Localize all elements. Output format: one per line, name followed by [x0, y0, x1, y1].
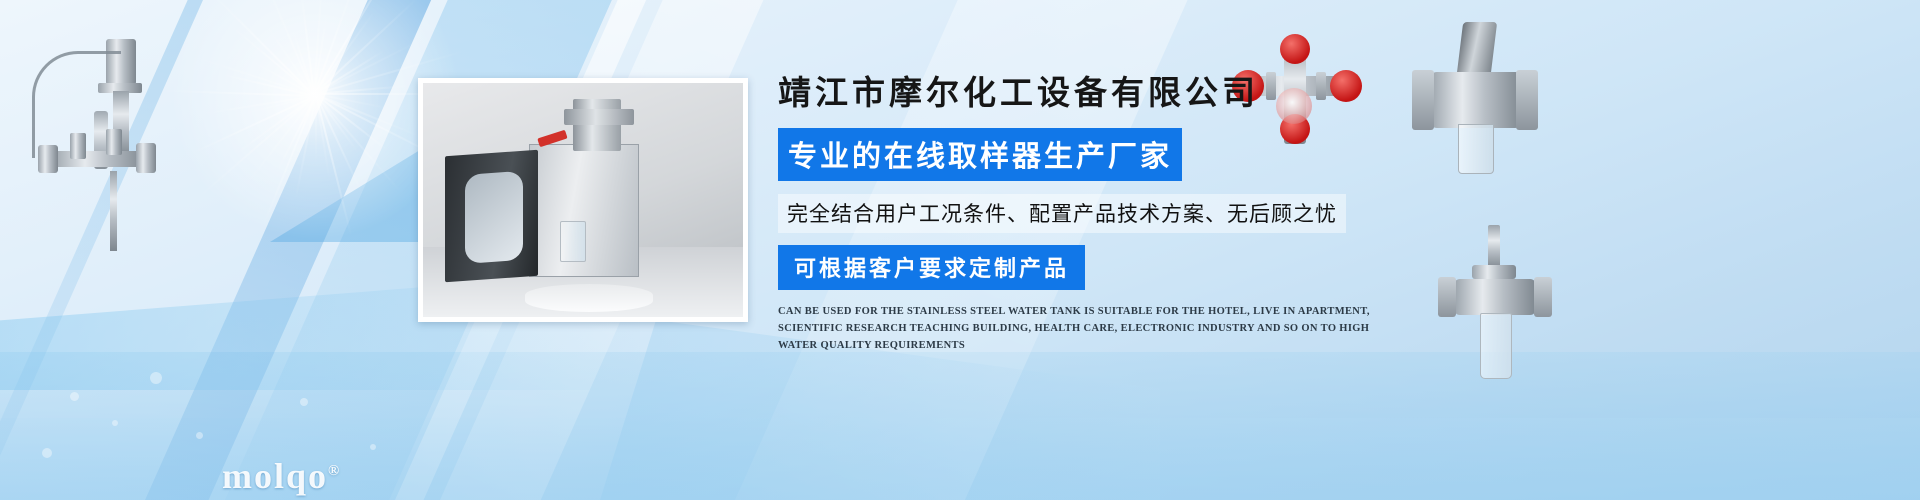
sample-bottle — [560, 221, 586, 262]
subheadline: 完全结合用户工况条件、配置产品技术方案、无后顾之忧 — [778, 194, 1346, 233]
sample-cylinder — [1480, 313, 1512, 379]
sun-ray — [313, 10, 375, 95]
water-bubble — [42, 448, 52, 458]
promotional-banner: 靖江市摩尔化工设备有限公司 专业的在线取样器生产厂家 完全结合用户工况条件、配置… — [0, 0, 1920, 500]
valve-body — [1454, 279, 1536, 315]
water-bubble — [370, 444, 376, 450]
valve-stem — [1488, 225, 1500, 269]
bonnet — [1472, 265, 1516, 279]
product-photo-inner — [423, 83, 743, 317]
stainless-steel-sampler-valve-image — [1438, 225, 1558, 390]
water-bubble — [112, 420, 118, 426]
sight-glass — [1458, 124, 1494, 174]
end-fitting — [136, 143, 156, 173]
sampling-valve-assembly-image — [10, 25, 160, 270]
product-photo[interactable] — [418, 78, 748, 322]
water-bubble — [150, 372, 162, 384]
valve-lever — [1457, 22, 1497, 74]
headline-row: 专业的在线取样器生产厂家 — [778, 128, 1418, 181]
cabinet-top-valve — [573, 99, 621, 150]
flanged-valve-body-image — [1408, 20, 1538, 180]
valve-body — [1430, 72, 1522, 128]
water-bubble — [70, 392, 79, 401]
headline-highlight: 专业的在线取样器生产厂家 — [778, 128, 1182, 181]
english-description: CAN BE USED FOR THE STAINLESS STEEL WATE… — [778, 303, 1378, 354]
valve-flange — [564, 109, 634, 125]
probe-rod — [110, 171, 117, 251]
banner-text-block: 靖江市摩尔化工设备有限公司 专业的在线取样器生产厂家 完全结合用户工况条件、配置… — [778, 74, 1418, 354]
support-bracket — [32, 51, 121, 158]
registered-mark-icon: ® — [328, 463, 341, 479]
flange — [1534, 277, 1552, 317]
watermark-text: molqo — [222, 456, 328, 496]
watermark-logo: molqo® — [222, 455, 341, 497]
flange — [1438, 277, 1456, 317]
door-window — [466, 171, 524, 263]
tagline-highlight: 可根据客户要求定制产品 — [778, 245, 1085, 290]
water-bubble — [196, 432, 203, 439]
photo-pedestal — [525, 284, 653, 312]
cabinet-door — [445, 150, 538, 283]
flange — [1516, 70, 1538, 130]
company-name: 靖江市摩尔化工设备有限公司 — [778, 74, 1418, 115]
sampler-cabinet — [529, 144, 640, 277]
water-bubble — [300, 398, 308, 406]
tagline-row: 可根据客户要求定制产品 — [778, 245, 1418, 290]
sun-ray — [276, 95, 317, 173]
handwheel-red — [1280, 34, 1310, 64]
